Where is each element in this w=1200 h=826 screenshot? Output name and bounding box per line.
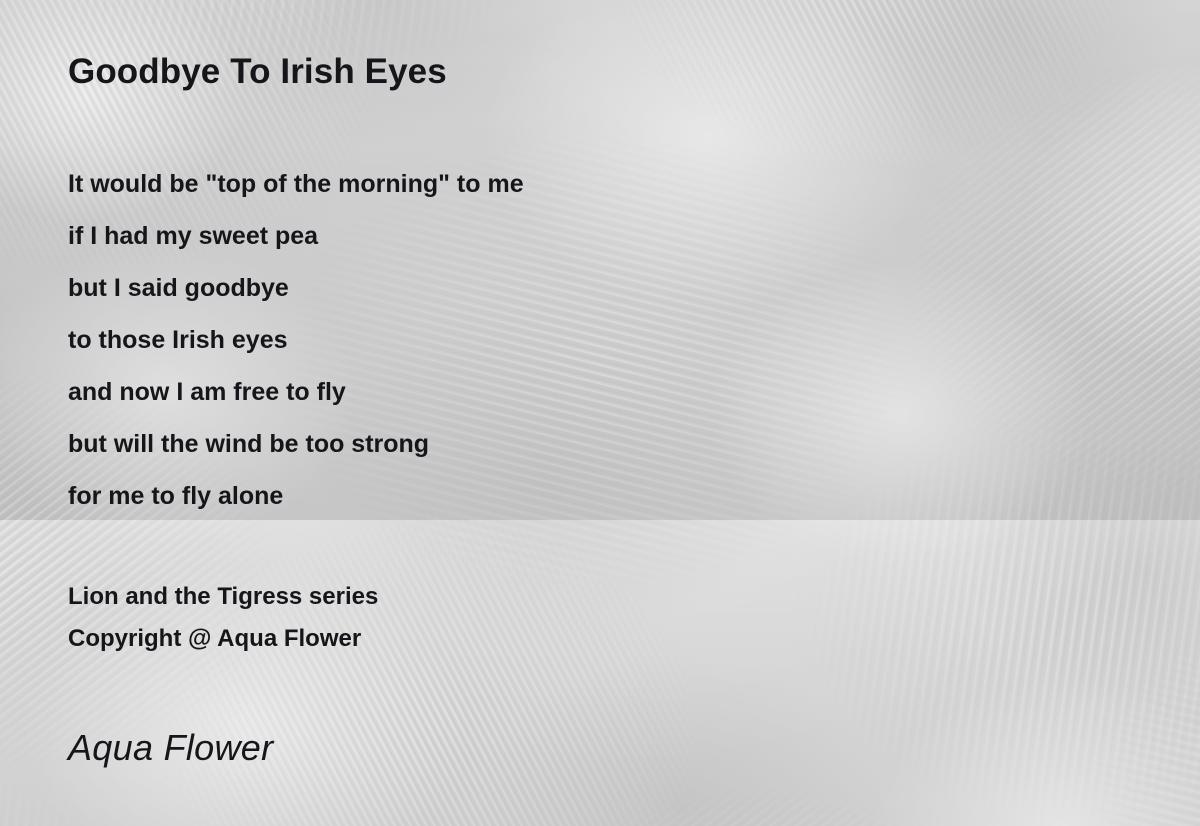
poem-credits: Lion and the Tigress series Copyright @ … <box>68 576 378 660</box>
poem-line: if I had my sweet pea <box>68 210 524 262</box>
poem-content: Goodbye To Irish Eyes It would be "top o… <box>0 0 1200 826</box>
poem-line: to those Irish eyes <box>68 314 524 366</box>
poem-title: Goodbye To Irish Eyes <box>68 53 447 92</box>
poem-line: It would be "top of the morning" to me <box>68 158 524 210</box>
poem-line: but will the wind be too strong <box>68 418 524 470</box>
poem-body: It would be "top of the morning" to me i… <box>68 158 524 522</box>
series-credit: Lion and the Tigress series <box>68 576 378 618</box>
poem-line: and now I am free to fly <box>68 366 524 418</box>
poem-line: for me to fly alone <box>68 470 524 522</box>
copyright-credit: Copyright @ Aqua Flower <box>68 618 378 660</box>
poem-line: but I said goodbye <box>68 262 524 314</box>
author-signature: Aqua Flower <box>68 727 273 769</box>
poem-image-card: Goodbye To Irish Eyes It would be "top o… <box>0 0 1200 826</box>
